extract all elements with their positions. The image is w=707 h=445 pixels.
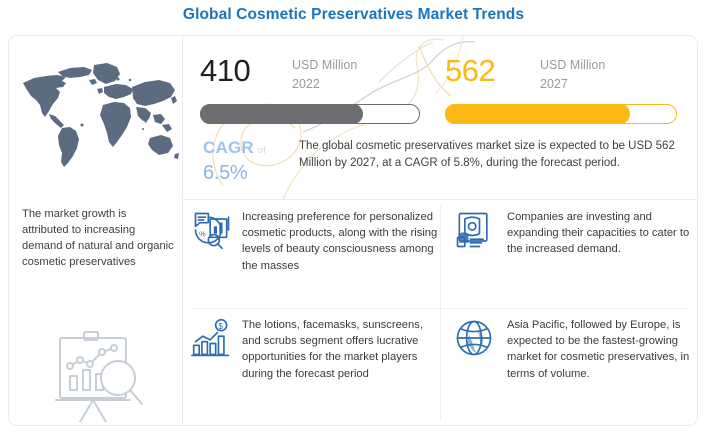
presentation-chart-magnifier-icon bbox=[46, 322, 164, 422]
progress-bar-2022 bbox=[200, 104, 420, 124]
metric-value-2027: 562 bbox=[445, 52, 495, 90]
insight-card-4-text: Asia Pacific, followed by Europe, is exp… bbox=[507, 316, 694, 382]
sidebar-description: The market growth is attributed to incre… bbox=[22, 206, 174, 270]
metric-value-2022: 410 bbox=[200, 52, 250, 90]
world-map-icon bbox=[14, 52, 179, 174]
page-title: Global Cosmetic Preservatives Market Tre… bbox=[0, 6, 707, 24]
hero-description: The global cosmetic preservatives market… bbox=[299, 138, 689, 171]
cards-column-divider bbox=[440, 205, 441, 420]
progress-bar-2022-fill bbox=[200, 104, 363, 124]
metric-unit-2022: USD Million bbox=[292, 56, 357, 75]
insight-card-3-text: The lotions, facemasks, sunscreens, and … bbox=[242, 316, 440, 382]
cagr-value: 6.5% bbox=[203, 161, 293, 185]
bar-chart-dollar-icon: $ bbox=[190, 316, 234, 360]
insight-card-4: Asia Pacific, followed by Europe, is exp… bbox=[452, 316, 694, 382]
insight-card-2-text: Companies are investing and expanding th… bbox=[507, 208, 692, 258]
cagr-of-text: of bbox=[258, 145, 266, 156]
market-analysis-icon: % bbox=[190, 208, 234, 252]
insight-card-3: $ The lotions, facemasks, sunscreens, an… bbox=[190, 316, 440, 382]
insight-card-1: % Increasing preference for personalized… bbox=[190, 208, 438, 274]
svg-text:%: % bbox=[199, 229, 206, 238]
hero-divider bbox=[183, 199, 697, 200]
cagr-block: CAGRof 6.5% bbox=[203, 138, 293, 185]
metric-year-2022: 2022 bbox=[292, 75, 320, 94]
insight-card-1-text: Increasing preference for personalized c… bbox=[242, 208, 438, 274]
cagr-label: CAGRof bbox=[203, 138, 293, 161]
svg-text:$: $ bbox=[218, 322, 223, 331]
metric-year-2027: 2027 bbox=[540, 75, 568, 94]
sidebar-divider bbox=[182, 36, 183, 425]
insight-card-2: Companies are investing and expanding th… bbox=[452, 208, 692, 258]
cagr-label-text: CAGR bbox=[203, 138, 254, 157]
metric-unit-2027: USD Million bbox=[540, 56, 605, 75]
progress-bar-2027-fill bbox=[445, 104, 630, 124]
hand-money-icon bbox=[452, 208, 496, 252]
infographic-root: Global Cosmetic Preservatives Market Tre… bbox=[0, 0, 707, 445]
progress-bar-2027 bbox=[445, 104, 677, 124]
cards-row-divider bbox=[190, 308, 690, 309]
globe-icon bbox=[452, 316, 496, 360]
